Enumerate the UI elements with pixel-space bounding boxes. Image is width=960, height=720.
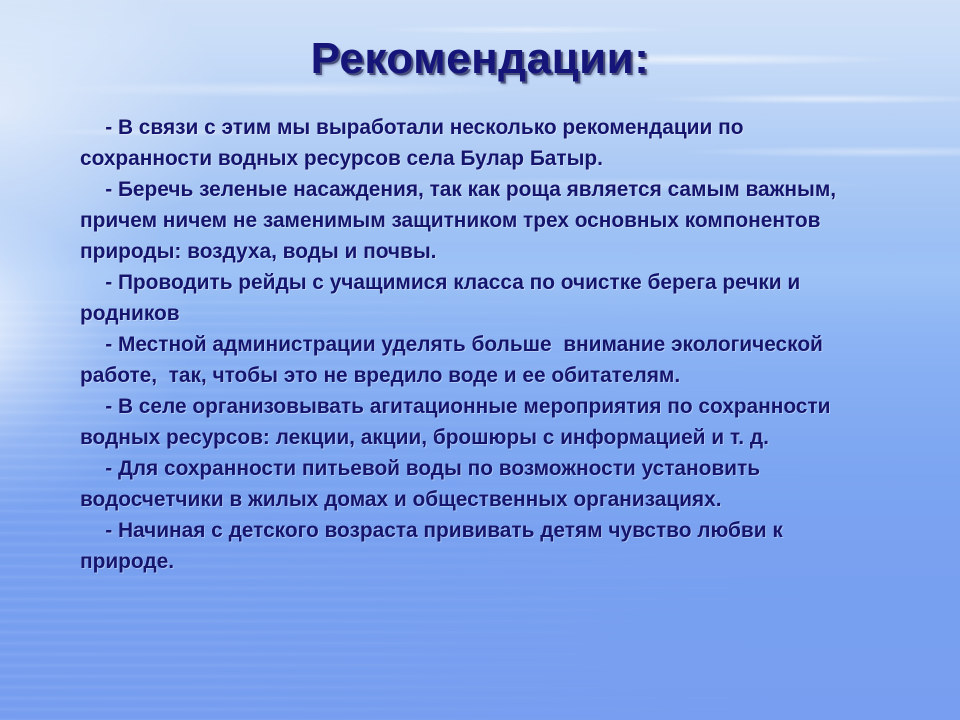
recommendation-item: - Местной администрации уделять больше в…: [80, 329, 879, 391]
recommendations-list: - В связи с этим мы выработали несколько…: [80, 112, 904, 577]
presentation-slide: Рекомендации: - В связи с этим мы вырабо…: [0, 0, 960, 720]
recommendation-item: - Беречь зеленые насаждения, так как рощ…: [80, 174, 879, 267]
recommendation-item: - В селе организовывать агитационные мер…: [80, 391, 879, 453]
recommendation-item: - Для сохранности питьевой воды по возмо…: [80, 453, 879, 515]
recommendation-item: - Проводить рейды с учащимися класса по …: [80, 267, 879, 329]
recommendation-item: - В связи с этим мы выработали несколько…: [80, 112, 879, 174]
slide-title: Рекомендации:: [0, 34, 960, 84]
slide-content: Рекомендации: - В связи с этим мы вырабо…: [0, 0, 960, 720]
recommendation-item: - Начиная с детского возраста прививать …: [80, 515, 879, 577]
